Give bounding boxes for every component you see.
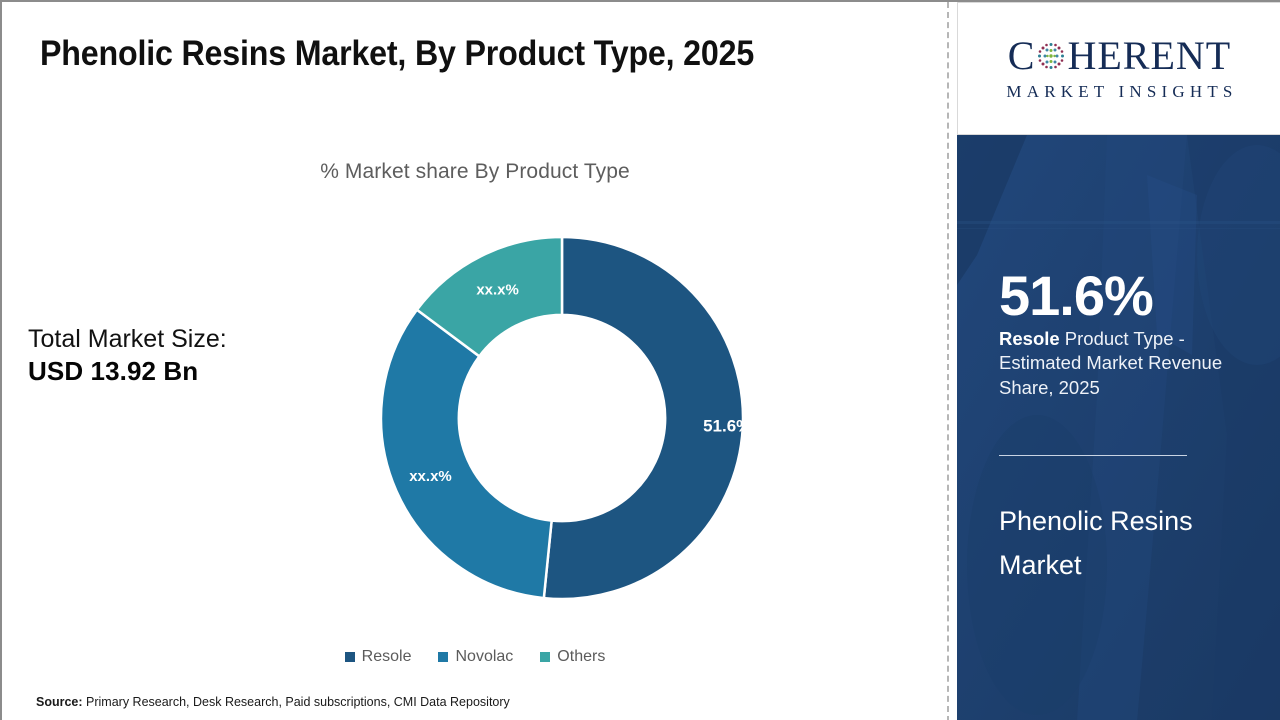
- donut-chart-svg: 51.6%xx.x%xx.x%: [380, 236, 744, 600]
- logo-word-before: C: [1008, 36, 1036, 76]
- stat-panel-content: 51.6% Resole Product Type - Estimated Ma…: [999, 135, 1249, 720]
- highlight-stat-panel: 51.6% Resole Product Type - Estimated Ma…: [957, 135, 1280, 720]
- legend-swatch-others: [540, 652, 550, 662]
- donut-label-others: xx.x%: [476, 282, 519, 299]
- panel-market-name: Phenolic Resins Market: [999, 500, 1239, 587]
- logo-word-after: HERENT: [1067, 36, 1231, 76]
- source-label: Source:: [36, 695, 83, 709]
- donut-slice-novolac[interactable]: [381, 310, 552, 598]
- panel-divider-rule: [999, 455, 1187, 456]
- stat-description: Resole Product Type - Estimated Market R…: [999, 327, 1229, 400]
- legend-item-novolac[interactable]: Novolac: [438, 648, 513, 666]
- total-market-size-block: Total Market Size: USD 13.92 Bn: [28, 324, 328, 387]
- legend-swatch-resole: [345, 652, 355, 662]
- legend-label-others: Others: [557, 648, 605, 666]
- infographic-canvas: Phenolic Resins Market, By Product Type,…: [0, 0, 1280, 720]
- source-text: Primary Research, Desk Research, Paid su…: [83, 695, 510, 709]
- globe-dots-icon: [1036, 41, 1066, 71]
- logo-subtitle: MARKET INSIGHTS: [1001, 82, 1237, 102]
- donut-label-novolac: xx.x%: [409, 468, 452, 485]
- legend-label-novolac: Novolac: [455, 648, 513, 666]
- legend-item-resole[interactable]: Resole: [345, 648, 412, 666]
- donut-slices: [381, 237, 743, 599]
- legend-item-others[interactable]: Others: [540, 648, 605, 666]
- page-title: Phenolic Resins Market, By Product Type,…: [40, 34, 850, 74]
- total-market-size-value: USD 13.92 Bn: [28, 355, 328, 388]
- legend-label-resole: Resole: [362, 648, 412, 666]
- left-content-pane: Phenolic Resins Market, By Product Type,…: [2, 2, 948, 720]
- legend-swatch-novolac: [438, 652, 448, 662]
- chart-subtitle: % Market share By Product Type: [2, 160, 948, 184]
- donut-chart: 51.6%xx.x%xx.x%: [380, 236, 744, 600]
- donut-label-resole: 51.6%: [703, 416, 744, 435]
- source-line: Source: Primary Research, Desk Research,…: [36, 695, 510, 709]
- chart-legend: Resole Novolac Others: [2, 648, 948, 666]
- vertical-dashed-divider: [947, 2, 949, 720]
- logo-wordmark: C: [1008, 36, 1231, 76]
- company-logo: C: [957, 2, 1280, 135]
- total-market-size-label: Total Market Size:: [28, 324, 328, 355]
- right-side-panel: C: [957, 2, 1280, 720]
- stat-value: 51.6%: [999, 268, 1153, 324]
- stat-description-strong: Resole: [999, 328, 1060, 349]
